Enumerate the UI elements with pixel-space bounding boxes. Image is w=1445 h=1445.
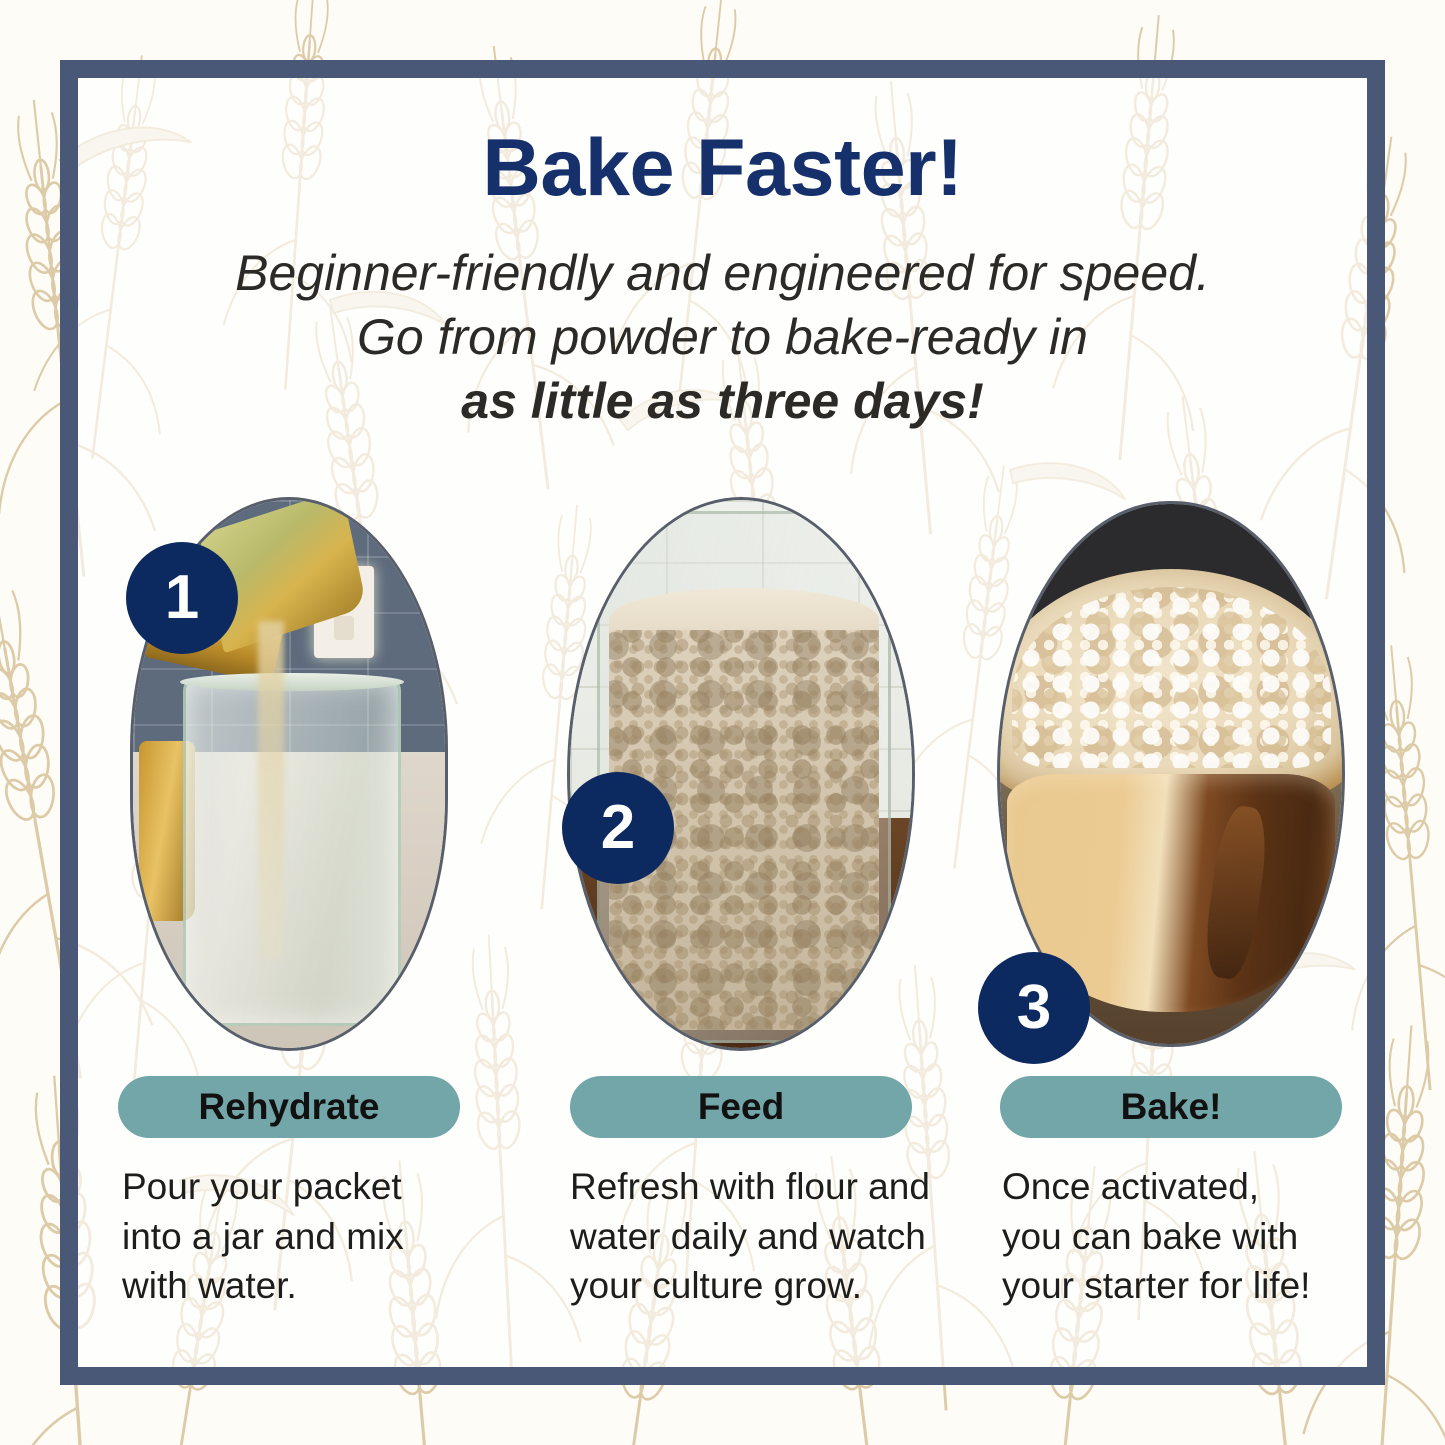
poster-header: Bake Faster! Beginner-friendly and engin… <box>78 78 1367 433</box>
step-1-label-pill: Rehydrate <box>118 1076 460 1138</box>
step-2-caption-line-1: Refresh with flour and <box>570 1162 930 1212</box>
step-card-1: 1 Rehydrate Pour your packet into a jar … <box>118 500 460 1311</box>
bake-faster-infographic: Bake Faster! Beginner-friendly and engin… <box>0 0 1445 1445</box>
step-3-label-pill: Bake! <box>1000 1076 1342 1138</box>
step-card-2: 2 Feed Refresh with flour and water dail… <box>570 500 912 1311</box>
subtitle-line-1: Beginner-friendly and engineered for spe… <box>78 241 1367 305</box>
step-3-caption: Once activated, you can bake with your s… <box>1002 1162 1362 1311</box>
steps-row: 1 Rehydrate Pour your packet into a jar … <box>78 500 1367 1360</box>
step-3-caption-line-1: Once activated, <box>1002 1162 1362 1212</box>
step-3-photo-wrap: 3 <box>1000 500 1342 1048</box>
step-1-caption-line-1: Pour your packet <box>122 1162 482 1212</box>
step-card-3: 3 Bake! Once activated, you can bake wit… <box>1000 500 1342 1311</box>
step-3-caption-line-2: you can bake with <box>1002 1212 1362 1262</box>
step-2-photo-wrap: 2 <box>570 500 912 1048</box>
step-1-number-badge: 1 <box>126 542 238 654</box>
poster-subtitle: Beginner-friendly and engineered for spe… <box>78 241 1367 433</box>
step-3-number-badge: 3 <box>978 952 1090 1064</box>
step-2-number-badge: 2 <box>562 772 674 884</box>
step-1-photo-wrap: 1 <box>118 500 460 1048</box>
step-2-caption: Refresh with flour and water daily and w… <box>570 1162 930 1311</box>
subtitle-line-2: Go from powder to bake-ready in <box>78 305 1367 369</box>
subtitle-line-3: as little as three days! <box>78 369 1367 433</box>
step-2-label-pill: Feed <box>570 1076 912 1138</box>
step-3-caption-line-3: your starter for life! <box>1002 1261 1362 1311</box>
step-1-caption-line-2: into a jar and mix <box>122 1212 482 1262</box>
step-1-caption: Pour your packet into a jar and mix with… <box>122 1162 482 1311</box>
step-1-caption-line-3: with water. <box>122 1261 482 1311</box>
step-2-caption-line-3: your culture grow. <box>570 1261 930 1311</box>
page-title: Bake Faster! <box>78 128 1367 209</box>
step-2-caption-line-2: water daily and watch <box>570 1212 930 1262</box>
